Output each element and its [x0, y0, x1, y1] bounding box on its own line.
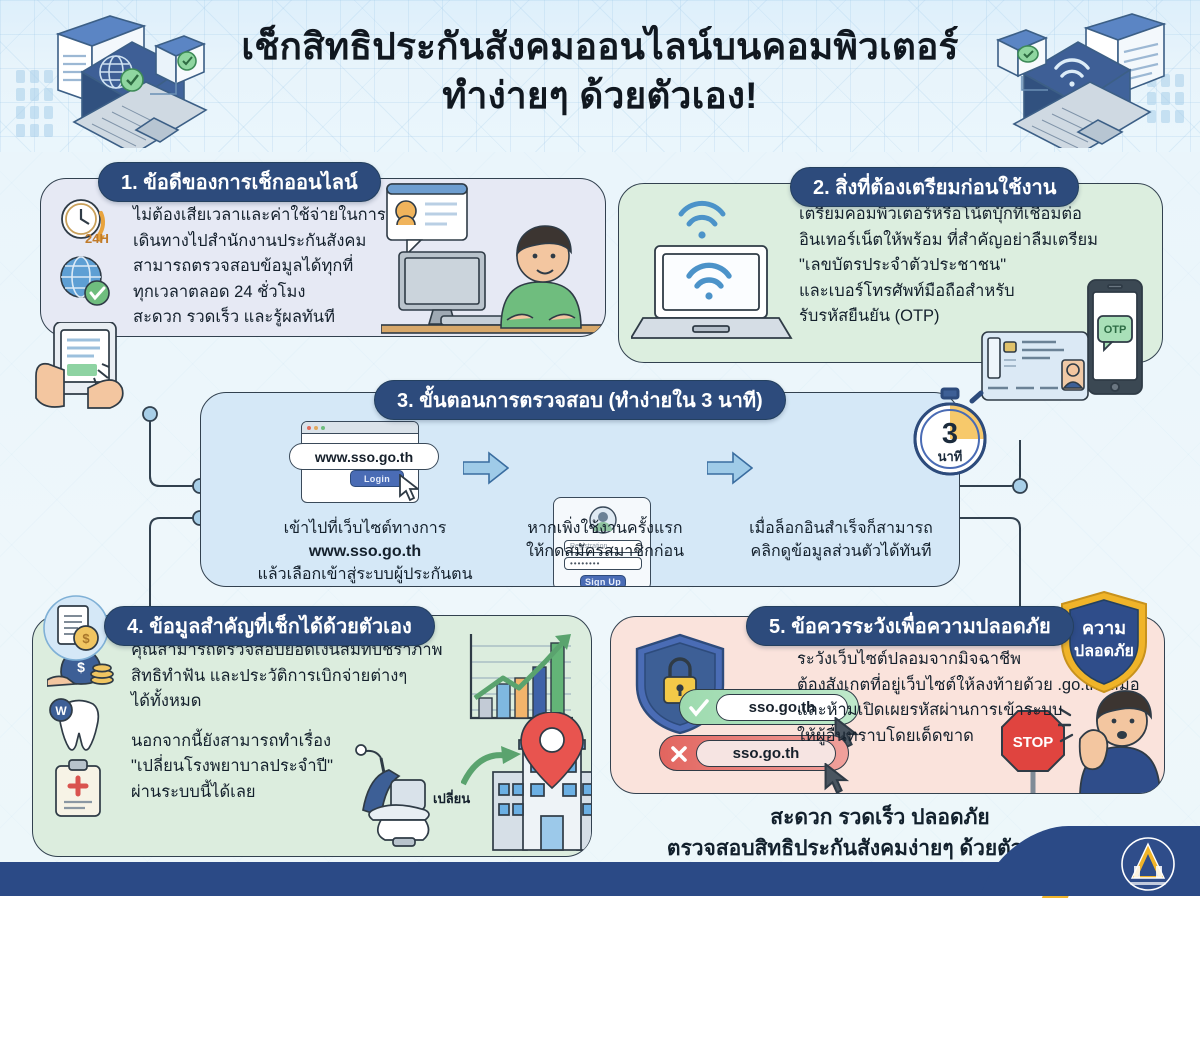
document-coin-icon: $	[42, 594, 110, 662]
cursor-pointer-icon	[398, 474, 419, 502]
check-icon	[688, 697, 710, 719]
header-banner: เช็กสิทธิประกันสังคมออนไลน์บนคอมพิวเตอร์…	[0, 0, 1200, 152]
section-5-line-4: ให้ผู้อื่นทราบโดยเด็ดขาด	[797, 724, 1167, 750]
section-4-p2-line-1: นอกจากนี้ยังสามารถทำเรื่อง	[131, 729, 491, 755]
stopwatch-unit: นาที	[938, 449, 963, 464]
section-1-line-5: สะดวก รวดเร็ว และรู้ผลทันที	[133, 305, 433, 331]
stopwatch-3-minutes-badge: 3 นาที	[908, 387, 994, 479]
clipboard-medical-icon	[51, 758, 109, 820]
section-card-3: Login www.sso.go.th	[200, 392, 960, 587]
window-close-dot	[307, 426, 311, 430]
section-1-line-4: ทุกเวลาตลอด 24 ชั่วโมง	[133, 280, 433, 306]
step-1-caption-line-2: www.sso.go.th	[247, 540, 483, 563]
url-bar-value[interactable]: www.sso.go.th	[289, 443, 439, 470]
section-4-text: คุณสามารถตรวจสอบยอดเงินสมทบชราภาพ สิทธิท…	[131, 638, 491, 805]
step-2-caption: หากเพิ่งใช้งานครั้งแรก ให้กดสมัครสมาชิกก…	[501, 517, 709, 563]
step-1-caption-line-1: เข้าไปที่เว็บไซต์ทางการ	[247, 517, 483, 540]
section-card-4: $ W	[32, 615, 592, 857]
svg-text:$: $	[82, 631, 90, 646]
section-1-line-3: สามารถตรวจสอบข้อมูลได้ทุกที่	[133, 254, 433, 280]
security-shield-badge: ความ ปลอดภัย	[1058, 590, 1150, 696]
hand-tablet-icon	[28, 322, 148, 412]
browser-titlebar	[302, 422, 418, 434]
window-min-dot	[314, 426, 318, 430]
page-title-line1: เช็กสิทธิประกันสังคมออนไลน์บนคอมพิวเตอร์	[241, 26, 958, 67]
id-card-icon	[980, 330, 1090, 402]
section-4-p2-line-2: "เปลี่ยนโรงพยาบาลประจำปี"	[131, 754, 491, 780]
window-max-dot	[321, 426, 325, 430]
section-3-title: 3. ขั้นตอนการตรวจสอบ (ทำง่ายใน 3 นาที)	[374, 380, 786, 420]
section-4-p1-line-3: ได้ทั้งหมด	[131, 689, 491, 715]
arrow-step1-to-step2-icon	[463, 451, 509, 485]
organization-logo	[1120, 836, 1176, 892]
arrow-step2-to-step3-icon	[707, 451, 753, 485]
page-title: เช็กสิทธิประกันสังคมออนไลน์บนคอมพิวเตอร์…	[200, 22, 1000, 120]
page-title-line2: ทำง่ายๆ ด้วยตัวเอง!	[200, 71, 1000, 120]
shield-badge-line2: ปลอดภัย	[1074, 642, 1134, 660]
section-4-paragraph-gap	[131, 715, 491, 729]
section-1-line-1: ไม่ต้องเสียเวลาและค่าใช้จ่ายในการ	[133, 203, 433, 229]
section-1-title: 1. ข้อดีของการเช็กออนไลน์	[98, 162, 381, 202]
laptop-wifi-illustration	[978, 8, 1178, 148]
section-5-title: 5. ข้อควรระวังเพื่อความปลอดภัย	[746, 606, 1074, 646]
otp-badge-label: OTP	[1104, 324, 1127, 336]
section-4-title: 4. ข้อมูลสำคัญที่เช็กได้ด้วยตัวเอง	[104, 606, 435, 646]
shield-badge-line1: ความ	[1082, 618, 1126, 638]
section-4-p1-line-2: สิทธิทำฟัน และประวัติการเบิกจ่ายต่างๆ	[131, 664, 491, 690]
wifi-laptop-icon	[631, 196, 801, 356]
step-2-caption-line-2: ให้กดสมัครสมาชิกก่อน	[501, 540, 709, 563]
cross-icon	[669, 744, 689, 764]
section-2-line-3: "เลขบัตรประจำตัวประชาชน"	[799, 253, 1149, 279]
bottom-bar	[0, 862, 1200, 896]
svg-text:24H: 24H	[85, 231, 109, 246]
step-3-caption-line-2: คลิกดูข้อมูลส่วนตัวได้ทันที	[731, 540, 951, 563]
laptop-globe-illustration	[22, 8, 222, 148]
hospital-building-icon	[489, 712, 591, 854]
stopwatch-number: 3	[942, 418, 958, 450]
section-4-p2-line-3: ผ่านระบบนี้ได้เลย	[131, 780, 491, 806]
cursor-pointer-icon-invalid	[823, 763, 851, 793]
login-button[interactable]: Login	[350, 470, 404, 487]
step-1-caption-line-3: แล้วเลือกเข้าสู่ระบบผู้ประกันตน	[247, 563, 483, 586]
phone-otp-icon: OTP	[1084, 278, 1148, 398]
signup-button[interactable]: Sign Up	[580, 575, 626, 586]
step-3-caption-line-1: เมื่อล็อกอินสำเร็จก็สามารถ	[731, 517, 951, 540]
section-2-line-2: อินเทอร์เน็ตให้พร้อม ที่สำคัญอย่าลืมเตรี…	[799, 228, 1149, 254]
step-1-caption: เข้าไปที่เว็บไซต์ทางการ www.sso.go.th แล…	[247, 517, 483, 586]
tooth-icon: W	[49, 698, 109, 752]
step-3-caption: เมื่อล็อกอินสำเร็จก็สามารถ คลิกดูข้อมูลส…	[731, 517, 951, 563]
infographic-page: เช็กสิทธิประกันสังคมออนไลน์บนคอมพิวเตอร์…	[0, 0, 1200, 896]
section-5-line-3: และห้ามเปิดเผยรหัสผ่านการเข้าระบบ	[797, 698, 1167, 724]
section-1-line-2: เดินทางไปสำนักงานประกันสังคม	[133, 229, 433, 255]
globe-check-icon	[55, 251, 117, 311]
section-card-3-inner: Login www.sso.go.th	[201, 393, 959, 586]
clock-24h-icon: 24H	[55, 193, 115, 253]
step-2-caption-line-1: หากเพิ่งใช้งานครั้งแรก	[501, 517, 709, 540]
content-area: 24H ไม่ต้องเสียเวลาและค่าใช้จ่ายในการ	[0, 152, 1200, 896]
section-2-title: 2. สิ่งที่ต้องเตรียมก่อนใช้งาน	[790, 167, 1079, 207]
svg-text:W: W	[55, 704, 67, 718]
section-1-text: ไม่ต้องเสียเวลาและค่าใช้จ่ายในการ เดินทา…	[133, 203, 433, 331]
